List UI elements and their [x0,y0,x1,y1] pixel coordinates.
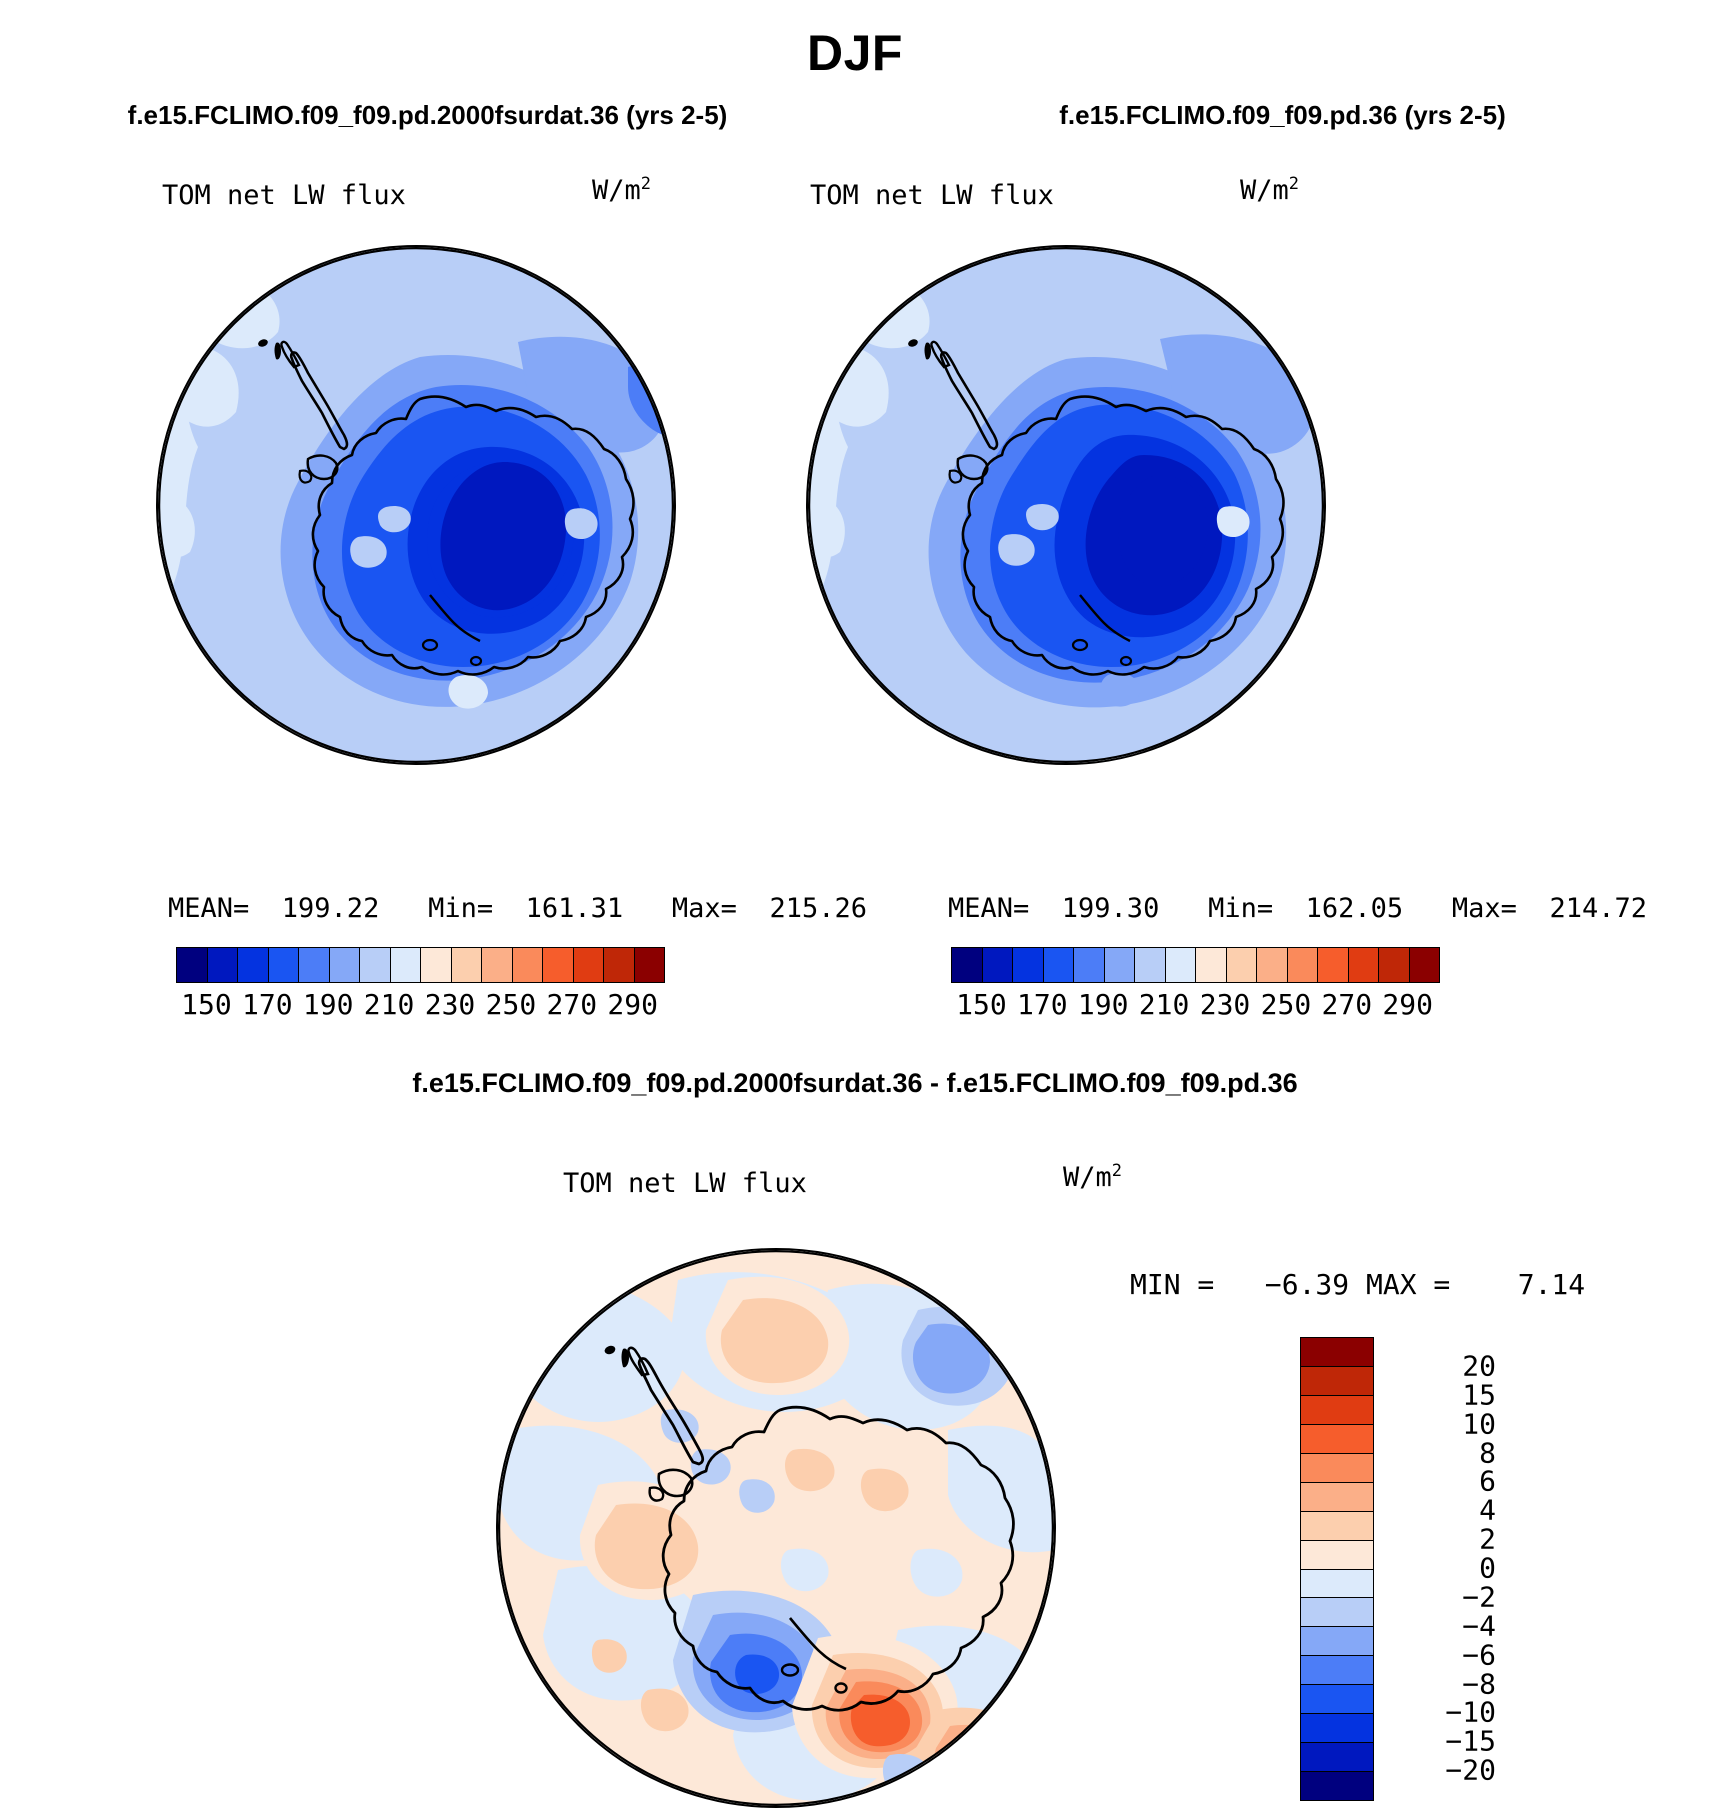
colorbar-cell [1318,948,1349,982]
colorbar-cell [1166,948,1197,982]
cbar-tick: 290 [607,988,658,1021]
units-exponent-left: 2 [641,174,651,194]
stats-left: MEAN= 199.22 Min= 161.31 Max= 215.26 [168,893,867,924]
colorbar-diff[interactable] [1300,1337,1374,1801]
colorbar-cell [1379,948,1410,982]
stats-right: MEAN= 199.30 Min= 162.05 Max= 214.72 [948,893,1647,924]
colorbar-right[interactable] [951,947,1440,983]
colorbar-cell [1301,1396,1373,1425]
cbar-tick: 190 [1078,988,1129,1021]
units-text-right: W/m [1240,175,1289,206]
colorbar-cell [1349,948,1380,982]
units-exponent-right: 2 [1289,174,1299,194]
colorbar-cell [604,948,635,982]
colorbar-cell [208,948,239,982]
case-title-right: f.e15.FCLIMO.f09_f09.pd.36 (yrs 2-5) [855,100,1710,131]
cbar-tick: 170 [1017,988,1068,1021]
colorbar-cell [543,948,574,982]
diff-minmax-stats: MIN = −6.39 MAX = 7.14 [1130,1268,1585,1301]
diff-case-title: f.e15.FCLIMO.f09_f09.pd.2000fsurdat.36 -… [0,1068,1710,1099]
colorbar-cell [1301,1367,1373,1396]
cbar-tick: −20 [1386,1754,1496,1787]
colorbar-cell [635,948,665,982]
colorbar-cell [1227,948,1258,982]
cbar-tick: 150 [181,988,232,1021]
colorbar-cell [1301,1772,1373,1800]
case-title-left: f.e15.FCLIMO.f09_f09.pd.2000fsurdat.36 (… [0,100,855,131]
colorbar-cell [1301,1483,1373,1512]
field-label-diff: TOM net LW flux [563,1168,807,1199]
colorbar-cell [1257,948,1288,982]
cbar-tick: 250 [1261,988,1312,1021]
cbar-tick: 230 [1200,988,1251,1021]
colorbar-cell [574,948,605,982]
colorbar-cell [238,948,269,982]
colorbar-left-labels: 150 170 190 210 230 250 270 290 [176,988,663,1022]
colorbar-diff-labels: 20 15 10 8 6 4 2 0 −2 −4 −6 −8 −10 −15 −… [1386,1337,1516,1799]
units-label-left: W/m2 [592,174,651,206]
colorbar-cell [269,948,300,982]
map-antarctica-right [806,245,1326,765]
colorbar-cell [360,948,391,982]
map-left-svg [158,247,674,763]
cbar-tick: 290 [1382,988,1433,1021]
colorbar-cell [1301,1743,1373,1772]
field-label-left: TOM net LW flux [162,180,406,211]
colorbar-left[interactable] [176,947,665,983]
colorbar-cell [177,948,208,982]
colorbar-cell [391,948,422,982]
units-text-left: W/m [592,175,641,206]
colorbar-cell [1301,1454,1373,1483]
colorbar-cell [421,948,452,982]
map-diff-svg [498,1250,1054,1806]
colorbar-cell [1135,948,1166,982]
colorbar-cell [983,948,1014,982]
colorbar-cell [1301,1598,1373,1627]
colorbar-cell [1301,1656,1373,1685]
colorbar-cell [1301,1512,1373,1541]
colorbar-cell [952,948,983,982]
units-exponent-diff: 2 [1112,1161,1122,1181]
units-label-right: W/m2 [1240,174,1299,206]
colorbar-right-labels: 150 170 190 210 230 250 270 290 [951,988,1438,1022]
map-right-svg [808,247,1324,763]
colorbar-cell [1196,948,1227,982]
cbar-tick: 230 [425,988,476,1021]
colorbar-cell [1410,948,1440,982]
colorbar-cell [1074,948,1105,982]
page-title: DJF [0,24,1710,82]
cbar-tick: 250 [486,988,537,1021]
colorbar-cell [1013,948,1044,982]
colorbar-cell [482,948,513,982]
cbar-tick: 150 [956,988,1007,1021]
cbar-tick: 270 [1322,988,1373,1021]
colorbar-cell [452,948,483,982]
cbar-tick: 190 [303,988,354,1021]
colorbar-cell [299,948,330,982]
colorbar-cell [1288,948,1319,982]
cbar-tick: 210 [364,988,415,1021]
colorbar-cell [1301,1541,1373,1570]
colorbar-cell [1301,1627,1373,1656]
cbar-tick: 210 [1139,988,1190,1021]
colorbar-cell [513,948,544,982]
field-label-right: TOM net LW flux [810,180,1054,211]
colorbar-cell [1044,948,1075,982]
colorbar-cell [1105,948,1136,982]
colorbar-cell [1301,1685,1373,1714]
cbar-tick: 170 [242,988,293,1021]
units-text-diff: W/m [1063,1162,1112,1193]
colorbar-cell [1301,1570,1373,1599]
colorbar-cell [1301,1338,1373,1367]
colorbar-cell [1301,1714,1373,1743]
colorbar-cell [1301,1425,1373,1454]
cbar-tick: 270 [547,988,598,1021]
map-antarctica-left [156,245,676,765]
colorbar-cell [330,948,361,982]
map-antarctica-diff [496,1248,1056,1808]
units-label-diff: W/m2 [1063,1161,1122,1193]
